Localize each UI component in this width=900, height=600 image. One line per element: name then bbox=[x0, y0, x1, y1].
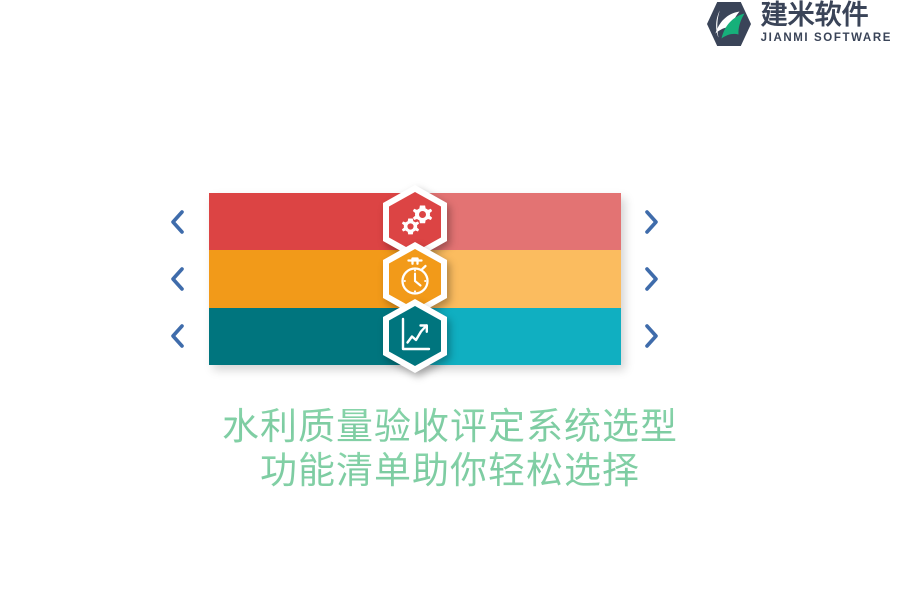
band-left-half bbox=[209, 308, 415, 365]
chevron-right-icon[interactable] bbox=[631, 202, 671, 242]
band-left-half bbox=[209, 193, 415, 250]
band-right-half bbox=[415, 308, 621, 365]
color-bands bbox=[209, 193, 621, 365]
band-row bbox=[209, 250, 621, 307]
next-arrow-group bbox=[631, 193, 671, 365]
brand-logo: 建米软件 JIANMI SOFTWARE bbox=[705, 0, 892, 48]
chevron-left-icon[interactable] bbox=[158, 316, 198, 356]
page-title: 水利质量验收评定系统选型 功能清单助你轻松选择 bbox=[0, 405, 900, 493]
prev-arrow-group bbox=[158, 193, 198, 365]
infographic-stage bbox=[150, 183, 670, 383]
chevron-left-icon[interactable] bbox=[158, 259, 198, 299]
brand-name-cn: 建米软件 bbox=[761, 1, 892, 30]
chevron-right-icon[interactable] bbox=[631, 316, 671, 356]
page-title-line-1: 水利质量验收评定系统选型 bbox=[0, 405, 900, 449]
chevron-right-icon[interactable] bbox=[631, 259, 671, 299]
band-right-half bbox=[415, 250, 621, 307]
brand-text: 建米软件 JIANMI SOFTWARE bbox=[761, 0, 892, 45]
chevron-left-icon[interactable] bbox=[158, 202, 198, 242]
jianmi-hexagon-leaf-logo-icon bbox=[705, 0, 753, 48]
band-row bbox=[209, 308, 621, 365]
brand-name-en: JIANMI SOFTWARE bbox=[761, 31, 892, 45]
band-right-half bbox=[415, 193, 621, 250]
band-left-half bbox=[209, 250, 415, 307]
band-row bbox=[209, 193, 621, 250]
infographic-banner bbox=[0, 183, 900, 383]
page-title-line-2: 功能清单助你轻松选择 bbox=[0, 449, 900, 493]
